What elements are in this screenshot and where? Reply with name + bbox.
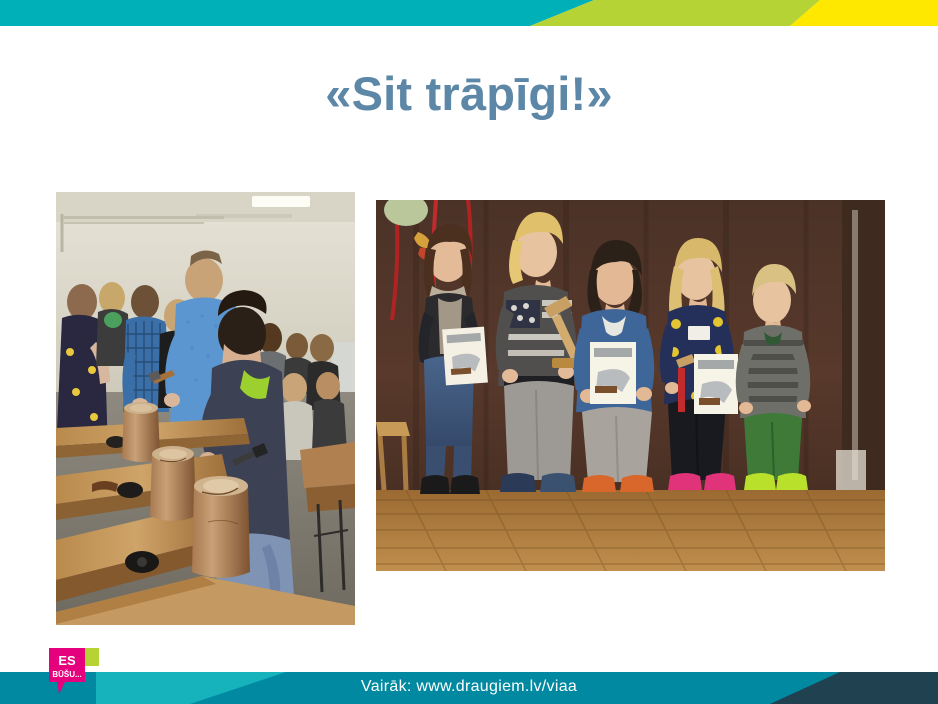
es-busu-logo: ES BŪŠU... bbox=[49, 648, 101, 696]
page-title: «Sit trāpīgi!» bbox=[0, 68, 938, 120]
workshop-photo bbox=[56, 192, 355, 625]
footer-link-text: Vairāk: www.draugiem.lv/viaa bbox=[0, 678, 938, 696]
es-busu-logo-graphic: ES BŪŠU... bbox=[49, 648, 101, 696]
workshop-photo-graphic bbox=[56, 192, 355, 625]
top-bar-shapes bbox=[0, 0, 938, 26]
top-decorative-bar bbox=[0, 0, 938, 26]
top-bar-teal-shape bbox=[0, 0, 594, 26]
winners-photo-graphic bbox=[376, 200, 885, 571]
logo-line-2: BŪŠU... bbox=[52, 670, 81, 679]
winners-photo bbox=[376, 200, 885, 571]
logo-line-1: ES bbox=[58, 653, 76, 668]
